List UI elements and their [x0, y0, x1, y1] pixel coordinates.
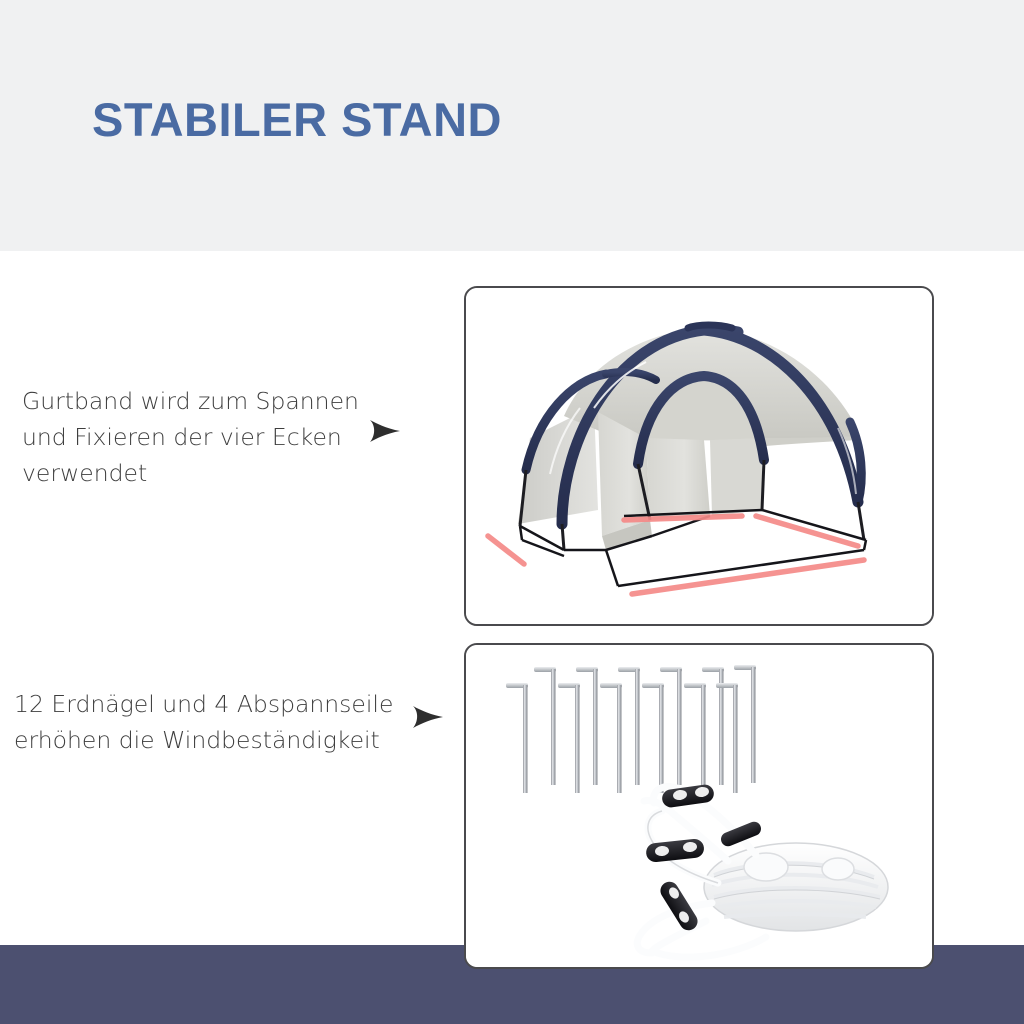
hardware-photo-card [464, 643, 934, 969]
arrow-right-icon [368, 417, 402, 450]
tent-stakes-and-guy-ropes-illustration [466, 645, 932, 967]
infographic-page: STABILER STAND Gurtband wird zum Spannen… [0, 0, 1024, 1024]
feature-description-stakes: 12 Erdnägel und 4 Abspannseile erhöhen d… [14, 686, 414, 758]
tent-photo-card [464, 286, 934, 626]
arrow-right-icon [411, 703, 445, 736]
dome-gazebo-tent-illustration [466, 288, 932, 624]
page-title: STABILER STAND [92, 92, 502, 147]
feature-description-strap: Gurtband wird zum Spannen und Fixieren d… [22, 383, 367, 491]
